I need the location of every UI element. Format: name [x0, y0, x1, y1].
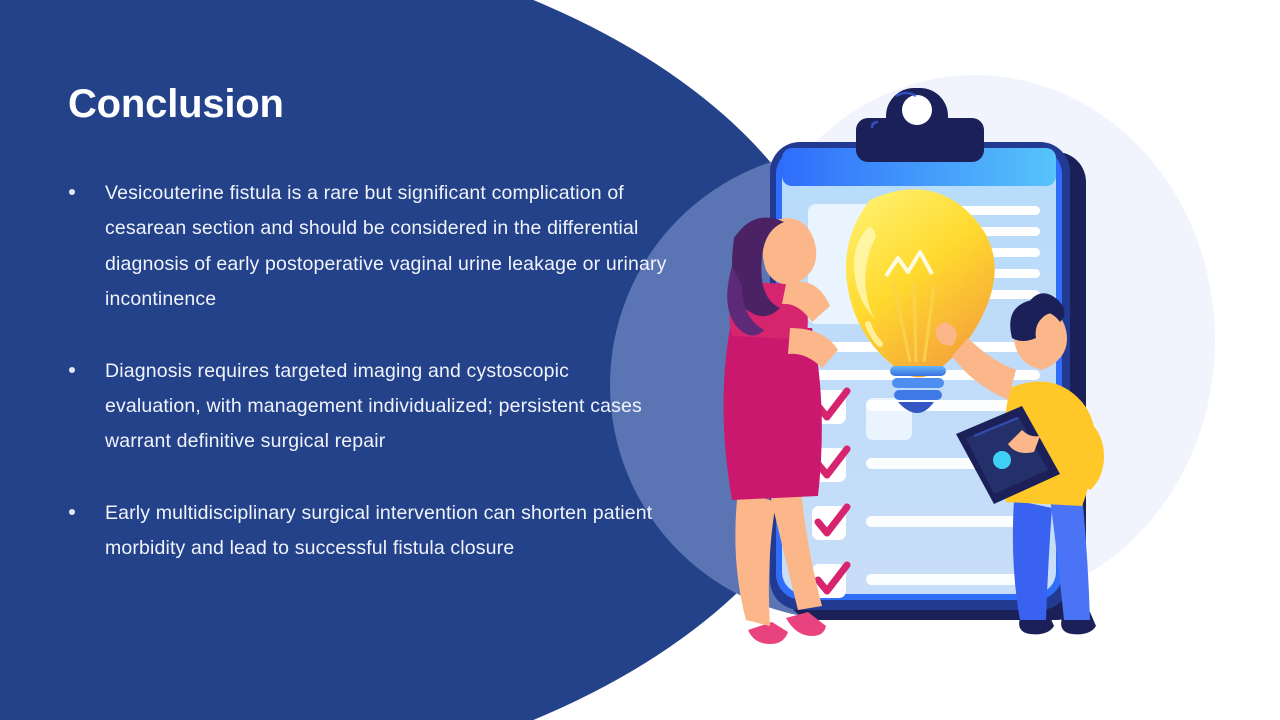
list-item: Diagnosis requires targeted imaging and …	[60, 354, 670, 460]
bullet-dot-icon	[69, 509, 75, 515]
clipboard-clip	[856, 88, 984, 162]
conclusion-illustration	[690, 70, 1210, 660]
bullet-text: Vesicouterine fistula is a rare but sign…	[105, 176, 670, 318]
bullet-dot-icon	[69, 367, 75, 373]
list-item: Early multidisciplinary surgical interve…	[60, 496, 670, 567]
presentation-slide: Conclusion Vesicouterine fistula is a ra…	[0, 0, 1280, 720]
conclusion-bullet-list: Vesicouterine fistula is a rare but sign…	[60, 176, 670, 603]
bullet-text: Early multidisciplinary surgical interve…	[105, 496, 670, 567]
bullet-text: Diagnosis requires targeted imaging and …	[105, 354, 670, 460]
list-item: Vesicouterine fistula is a rare but sign…	[60, 176, 670, 318]
slide-text-column: Conclusion Vesicouterine fistula is a ra…	[0, 0, 700, 720]
bullet-dot-icon	[69, 189, 75, 195]
page-title: Conclusion	[68, 82, 284, 127]
